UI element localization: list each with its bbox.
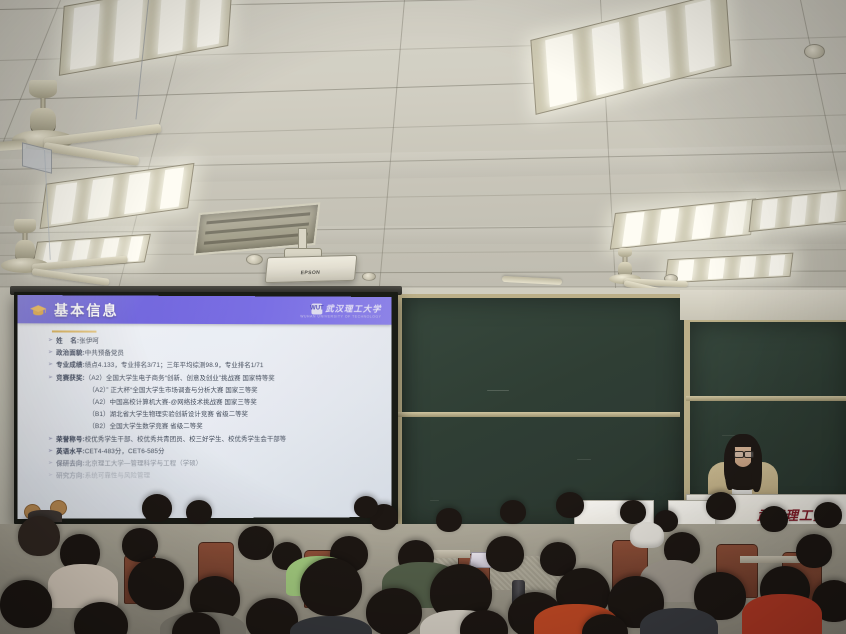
slide-row-label: 姓 名:	[56, 338, 79, 346]
slide-award-row: （A2）” 正大杯“全国大学生市场调查与分析大赛 国家三等奖	[17, 387, 391, 395]
white-cap	[630, 522, 664, 548]
slide-row: ➢ 姓 名: 张伊呵	[17, 337, 391, 346]
audience-shoulders	[640, 608, 718, 634]
slide-row-value: 系统可靠性与风险管理	[85, 472, 150, 480]
audience-head	[366, 588, 422, 634]
slide-award-text: （B2）全国大学生数学竞赛 省级二等奖	[88, 423, 202, 431]
audience-head	[122, 528, 158, 562]
audience-shoulders	[742, 594, 822, 634]
slide-row-label: 研究方向:	[56, 472, 85, 480]
slide-row-value: 绩点4.133，专业排名3/71；三年平均综测98.9，专业排名1/71	[85, 362, 264, 370]
bullet-icon: ➢	[48, 374, 53, 382]
audience-head	[760, 506, 788, 532]
bullet-icon: ➢	[48, 337, 53, 345]
wall-panel-right	[680, 290, 846, 320]
slide-row-label: 政治面貌:	[56, 350, 85, 358]
projector-brand-label: EPSON	[300, 270, 320, 277]
epson-projector: EPSON	[265, 255, 358, 283]
audience-head	[796, 534, 832, 568]
slide-accent-underline	[52, 330, 97, 332]
audience-head	[18, 516, 60, 556]
bullet-icon: ➢	[48, 448, 53, 456]
university-logo-mark: WUT	[311, 303, 322, 314]
lecture-desk	[740, 556, 800, 563]
slide-award-row: （B2）全国大学生数学竞赛 省级二等奖	[17, 423, 391, 431]
slide-award-text: （A2）” 正大杯“全国大学生市场调查与分析大赛 国家三等奖	[88, 387, 257, 395]
slide-content: ➢ 姓 名: 张伊呵 ➢ 政治面貌: 中共预备党员 ➢ 专业成绩: 绩点4.13…	[17, 337, 391, 485]
audience-head	[238, 526, 274, 560]
audience-head	[186, 500, 212, 524]
speaker-glasses	[734, 451, 744, 458]
audience-head	[300, 558, 362, 616]
audience-head	[556, 492, 584, 518]
slide-row-value: 校优秀学生干部、校优秀共青团员、校三好学生、校优秀学生会干部等	[85, 435, 287, 443]
audience-head	[620, 500, 646, 524]
bullet-icon: ➢	[48, 460, 53, 468]
slide-row: ➢ 政治面貌: 中共预备党员	[17, 350, 391, 359]
ceiling-fan	[0, 84, 170, 174]
ceiling: EPSON	[0, 0, 846, 300]
smoke-detector-icon	[246, 254, 263, 265]
smoke-detector-icon	[804, 44, 825, 59]
slide-award-row: （B1）湖北省大学生物理实验创新设计竞赛 省级二等奖	[17, 411, 391, 419]
audience-head	[706, 492, 736, 520]
slide-row-label: 竞赛获奖:	[56, 374, 85, 382]
slide-row-value: （A2）全国大学生电子商务“创新、创意及创业”挑战赛 国家特等奖	[85, 374, 275, 382]
audience-head	[0, 580, 52, 628]
slide-row: ➢ 保研去向: 北京理工大学—管理科学与工程（学硕）	[17, 459, 391, 468]
audience-shoulders	[48, 564, 118, 608]
slide-row-label: 专业成绩:	[56, 362, 85, 370]
slide-row-label: 英语水平:	[56, 448, 85, 456]
university-logo: WUT 武汉理工大学	[311, 303, 381, 315]
bullet-icon: ➢	[48, 436, 53, 444]
slide-row-label: 荣誉称号:	[56, 436, 85, 444]
slide-row-value: 张伊呵	[79, 338, 99, 346]
slide-row: ➢ 荣誉称号: 校优秀学生干部、校优秀共青团员、校三好学生、校优秀学生会干部等	[17, 435, 391, 444]
university-logo-cn: 武汉理工大学	[325, 303, 381, 315]
university-logo-en: WUHAN UNIVERSITY OF TECHNOLOGY	[300, 314, 381, 318]
audience-shoulders	[290, 616, 372, 634]
slide-award-text: （B1）湖北省大学生物理实验创新设计竞赛 省级二等奖	[88, 411, 248, 419]
audience-head	[74, 602, 128, 634]
slide-title: 基本信息	[54, 300, 119, 320]
slide-row: ➢ 英语水平: CET4-483分，CET6-585分	[17, 447, 391, 456]
graduation-cap-icon	[30, 304, 47, 316]
slide-row: ➢ 竞赛获奖: （A2）全国大学生电子商务“创新、创意及创业”挑战赛 国家特等奖	[17, 374, 391, 383]
slide-row-value: 北京理工大学—管理科学与工程（学硕）	[85, 460, 202, 468]
audience-head	[354, 496, 378, 518]
slide-row-value: CET4-483分，CET6-585分	[85, 448, 165, 456]
audience-head	[486, 536, 524, 572]
bullet-icon: ➢	[48, 473, 53, 481]
audience-head	[814, 502, 842, 528]
smoke-detector-icon	[362, 272, 376, 281]
ceiling-light-panel	[530, 0, 731, 115]
audience-seating	[0, 484, 846, 634]
slide-award-row: （A2）中国高校计算机大赛-@网络技术挑战赛 国家三等奖	[17, 399, 391, 407]
slide-award-text: （A2）中国高校计算机大赛-@网络技术挑战赛 国家三等奖	[88, 399, 256, 407]
slide-row-value: 中共预备党员	[85, 350, 124, 358]
audience-head	[142, 494, 172, 522]
speaker-glasses	[744, 451, 754, 458]
chalkboard-rail	[398, 412, 680, 417]
ceiling-fan	[0, 222, 150, 292]
audience-head	[500, 500, 526, 524]
slide-row: ➢ 专业成绩: 绩点4.133，专业排名3/71；三年平均综测98.9，专业排名…	[17, 362, 391, 371]
slide-row-label: 保研去向:	[56, 460, 85, 468]
bullet-icon: ➢	[48, 350, 53, 358]
audience-head	[436, 508, 462, 532]
chalkboard-side-rail	[686, 396, 846, 401]
audience-head	[128, 558, 184, 610]
bullet-icon: ➢	[48, 362, 53, 370]
lecture-hall-photo: EPSON 基本信息 WUT	[0, 0, 846, 634]
slide-row: ➢ 研究方向: 系统可靠性与风险管理	[17, 471, 391, 480]
